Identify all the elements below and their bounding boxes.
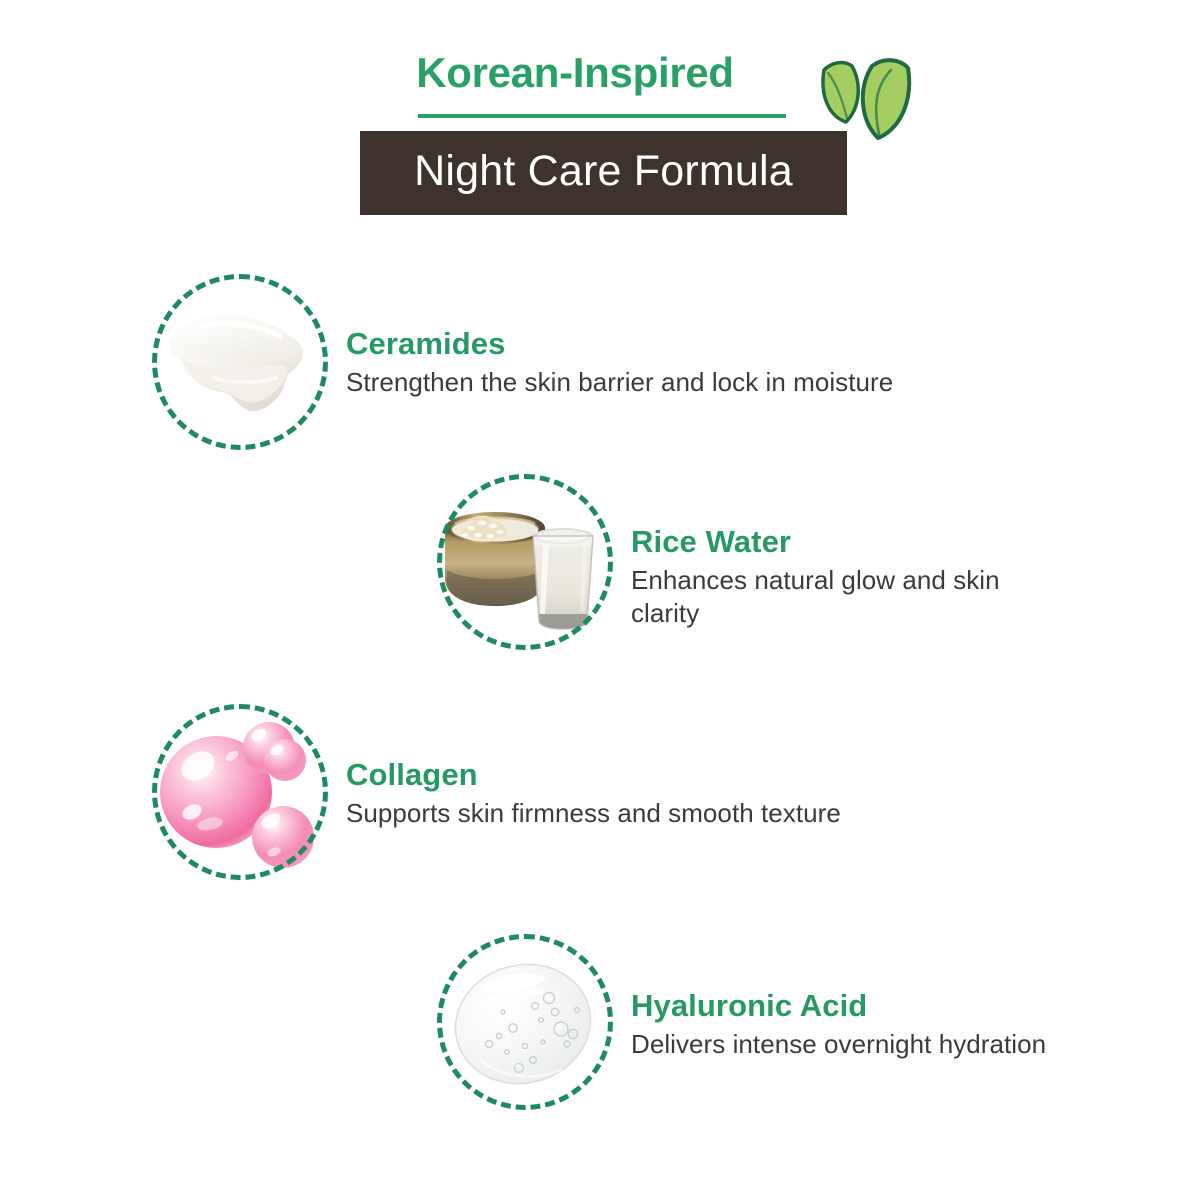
ingredient-image-circle — [437, 934, 613, 1110]
ingredient-text: Rice Water Enhances natural glow and ski… — [631, 526, 1051, 631]
page-title: Night Care Formula — [360, 131, 847, 215]
ingredient-text: Hyaluronic Acid Delivers intense overnig… — [631, 990, 1191, 1061]
ingredient-text: Collagen Supports skin firmness and smoo… — [346, 759, 1046, 830]
eyebrow-heading: Korean-Inspired — [360, 50, 790, 95]
ingredient-image-circle — [152, 274, 328, 450]
ingredient-description: Enhances natural glow and skin clarity — [631, 564, 1051, 631]
header: Korean-Inspired Night Care Formula — [0, 0, 1200, 250]
ingredient-description: Supports skin firmness and smooth textur… — [346, 797, 1046, 830]
ingredient-ceramides: Ceramides Strengthen the skin barrier an… — [152, 274, 1052, 454]
ingredient-name: Collagen — [346, 759, 1046, 790]
ingredient-name: Ceramides — [346, 328, 1046, 359]
ingredient-name: Hyaluronic Acid — [631, 990, 1191, 1021]
infographic-canvas: Korean-Inspired Night Care Formula — [0, 0, 1200, 1200]
dashed-ring — [437, 934, 613, 1110]
ingredient-image-circle — [152, 704, 328, 880]
dashed-ring — [152, 704, 328, 880]
dashed-ring — [152, 274, 328, 450]
ingredient-rice-water: Rice Water Enhances natural glow and ski… — [437, 474, 1137, 654]
ingredient-description: Delivers intense overnight hydration — [631, 1028, 1191, 1061]
title-banner: Night Care Formula — [360, 131, 847, 215]
eyebrow-underline — [418, 114, 786, 118]
ingredient-image-circle — [437, 474, 613, 650]
ingredient-description: Strengthen the skin barrier and lock in … — [346, 366, 1046, 399]
ingredient-hyaluronic-acid: Hyaluronic Acid Delivers intense overnig… — [437, 934, 1177, 1114]
ingredient-collagen: Collagen Supports skin firmness and smoo… — [152, 704, 1052, 884]
ingredient-name: Rice Water — [631, 526, 1051, 557]
dashed-ring — [437, 474, 613, 650]
ingredient-text: Ceramides Strengthen the skin barrier an… — [346, 328, 1046, 399]
leaf-icon — [812, 48, 916, 148]
